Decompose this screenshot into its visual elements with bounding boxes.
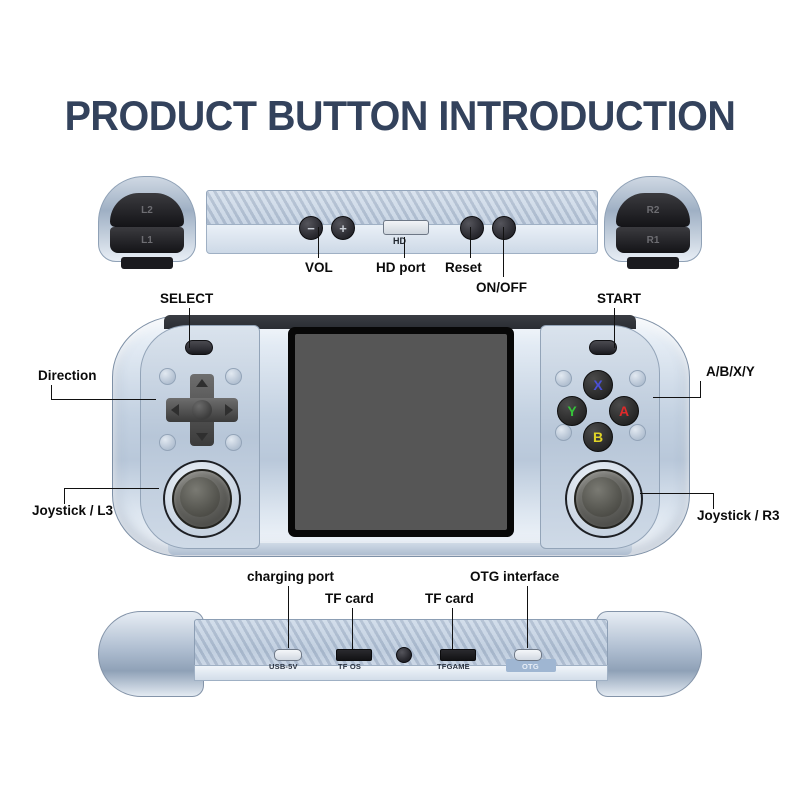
reset-button[interactable] — [460, 216, 484, 240]
button-y-label: Y — [567, 404, 576, 418]
tf-game-printed-label: TFGAME — [437, 662, 470, 671]
product-diagram: PRODUCT BUTTON INTRODUCTION L2 L1 R2 R1 … — [0, 0, 800, 800]
button-l1[interactable]: L1 — [110, 227, 184, 253]
button-x-label: X — [593, 378, 602, 392]
button-b[interactable]: B — [583, 422, 613, 452]
button-r1-label: R1 — [647, 235, 660, 246]
leader-joystick-l3-v — [64, 488, 65, 504]
otg-printed-label: OTG — [522, 662, 539, 671]
button-l2[interactable]: L2 — [110, 193, 184, 227]
right-control-panel: X Y A B — [540, 325, 660, 549]
bottom-edge-view: USB-5V TF OS TFGAME OTG — [98, 605, 702, 701]
leader-start — [614, 308, 615, 348]
charging-port-printed-label: USB-5V — [269, 662, 298, 671]
button-a-label: A — [619, 404, 629, 418]
callout-joystick-r3: Joystick / R3 — [697, 509, 780, 523]
callout-otg-interface: OTG interface — [470, 570, 559, 584]
right-grip-foot — [627, 257, 679, 269]
page-title: PRODUCT BUTTON INTRODUCTION — [24, 92, 776, 140]
volume-down-glyph: − — [307, 222, 315, 235]
button-r2-label: R2 — [647, 205, 660, 216]
left-grip-foot — [121, 257, 173, 269]
right-joystick[interactable] — [565, 460, 639, 534]
volume-up-glyph: + — [339, 222, 347, 235]
face-button-cluster: X Y A B — [557, 370, 637, 450]
dpad[interactable] — [166, 374, 238, 446]
left-grip — [98, 611, 204, 697]
tf-os-printed-label: TF OS — [338, 662, 361, 671]
leader-joystick-r3-h — [640, 493, 714, 494]
left-shoulder-assembly: L2 L1 — [98, 176, 196, 262]
display-surface — [295, 334, 507, 530]
leader-onoff — [503, 227, 504, 277]
callout-vol: VOL — [305, 261, 333, 275]
leader-direction-h — [51, 399, 156, 400]
otg-port[interactable] — [514, 649, 542, 661]
callout-reset: Reset — [445, 261, 482, 275]
callout-onoff: ON/OFF — [476, 281, 527, 295]
leader-joystick-l3-h — [64, 488, 159, 489]
left-joystick-cap[interactable] — [180, 477, 220, 517]
left-joystick[interactable] — [163, 460, 237, 534]
tf-os-slot[interactable] — [336, 649, 372, 661]
dpad-up-icon[interactable] — [196, 379, 208, 387]
button-a[interactable]: A — [609, 396, 639, 426]
leader-otg-interface — [527, 586, 528, 648]
leader-hd-port — [404, 237, 405, 258]
button-l1-label: L1 — [141, 235, 153, 246]
dpad-right-icon[interactable] — [225, 404, 233, 416]
callout-direction: Direction — [38, 369, 97, 383]
leader-tf-card-game — [452, 608, 453, 649]
button-l2-label: L2 — [141, 205, 153, 216]
dpad-hub — [192, 400, 212, 420]
leader-tf-card-os — [352, 608, 353, 649]
callout-tf-card-game: TF card — [425, 592, 474, 606]
dpad-left-icon[interactable] — [171, 404, 179, 416]
left-control-panel — [140, 325, 260, 549]
leader-reset — [470, 227, 471, 258]
callout-tf-card-os: TF card — [325, 592, 374, 606]
button-y[interactable]: Y — [557, 396, 587, 426]
leader-abxy-h — [653, 397, 701, 398]
start-button[interactable] — [589, 340, 617, 355]
leader-select — [189, 308, 190, 348]
front-face-view: X Y A B — [112, 315, 688, 555]
button-r2[interactable]: R2 — [616, 193, 690, 227]
dpad-down-icon[interactable] — [196, 433, 208, 441]
volume-down-button[interactable]: − — [299, 216, 323, 240]
display-screen — [288, 327, 514, 537]
right-joystick-cap[interactable] — [582, 477, 622, 517]
button-b-label: B — [593, 430, 603, 444]
right-shoulder-assembly: R2 R1 — [604, 176, 702, 262]
hd-port[interactable] — [383, 220, 429, 235]
leader-vol — [318, 227, 319, 258]
leader-abxy-v — [700, 381, 701, 398]
callout-select: SELECT — [160, 292, 213, 306]
button-x[interactable]: X — [583, 370, 613, 400]
tf-game-slot[interactable] — [440, 649, 476, 661]
leader-charging-port — [288, 586, 289, 648]
callout-start: START — [597, 292, 641, 306]
callout-charging-port: charging port — [247, 570, 334, 584]
callout-joystick-l3: Joystick / L3 — [32, 504, 113, 518]
callout-hd-port: HD port — [376, 261, 426, 275]
volume-up-button[interactable]: + — [331, 216, 355, 240]
callout-abxy: A/B/X/Y — [706, 365, 755, 379]
button-r1[interactable]: R1 — [616, 227, 690, 253]
top-edge-view: L2 L1 R2 R1 − + HD — [98, 168, 702, 268]
headphone-jack[interactable] — [396, 647, 412, 663]
leader-direction-v — [51, 385, 52, 400]
leader-joystick-r3-v — [713, 493, 714, 509]
charging-port[interactable] — [274, 649, 302, 661]
right-grip — [596, 611, 702, 697]
